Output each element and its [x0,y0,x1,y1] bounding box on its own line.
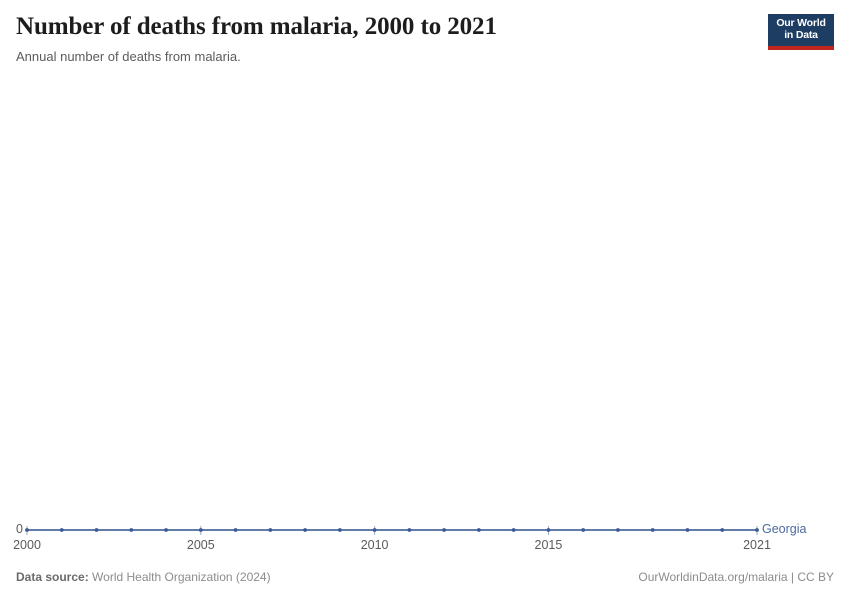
data-point-2006[interactable] [234,528,238,532]
data-point-2013[interactable] [477,528,481,532]
our-world-in-data-logo[interactable]: Our World in Data [768,14,834,50]
data-point-2014[interactable] [512,528,516,532]
data-point-2017[interactable] [616,528,620,532]
plot-area[interactable] [16,80,834,535]
logo-line-1: Our World [776,18,825,30]
data-point-2021[interactable] [755,528,759,532]
data-point-2018[interactable] [651,528,655,532]
data-point-2005[interactable] [199,528,203,532]
data-point-2019[interactable] [686,528,690,532]
series-label-georgia[interactable]: Georgia [762,523,806,536]
data-source-label: Data source: [16,570,89,584]
data-point-2016[interactable] [581,528,585,532]
data-point-2007[interactable] [268,528,272,532]
x-axis-label-2021: 2021 [743,538,771,552]
data-point-2010[interactable] [373,528,377,532]
data-point-2011[interactable] [407,528,411,532]
chart-header: Number of deaths from malaria, 2000 to 2… [16,12,834,72]
data-point-2008[interactable] [303,528,307,532]
x-axis-label-2000: 2000 [13,538,41,552]
y-axis-tick-0: 0 [16,523,23,536]
data-source-value: World Health Organization (2024) [92,570,271,584]
data-point-2001[interactable] [60,528,64,532]
x-axis-label-2015: 2015 [535,538,563,552]
chart-subtitle: Annual number of deaths from malaria. [16,48,834,65]
data-point-2012[interactable] [442,528,446,532]
logo-line-2: in Data [784,30,818,42]
x-axis-label-2005: 2005 [187,538,215,552]
data-point-2000[interactable] [25,528,29,532]
data-point-2009[interactable] [338,528,342,532]
page-title: Number of deaths from malaria, 2000 to 2… [16,12,834,42]
x-axis-label-2010: 2010 [361,538,389,552]
attribution-link[interactable]: OurWorldinData.org/malaria | CC BY [638,569,834,585]
data-point-2003[interactable] [129,528,133,532]
data-point-2004[interactable] [164,528,168,532]
owid-chart: Number of deaths from malaria, 2000 to 2… [0,0,850,600]
line-chart-svg [16,80,834,535]
chart-footer: Data source: World Health Organization (… [16,569,834,587]
data-point-2015[interactable] [547,528,551,532]
data-point-2020[interactable] [720,528,724,532]
data-source: Data source: World Health Organization (… [16,569,271,585]
data-point-2002[interactable] [95,528,99,532]
